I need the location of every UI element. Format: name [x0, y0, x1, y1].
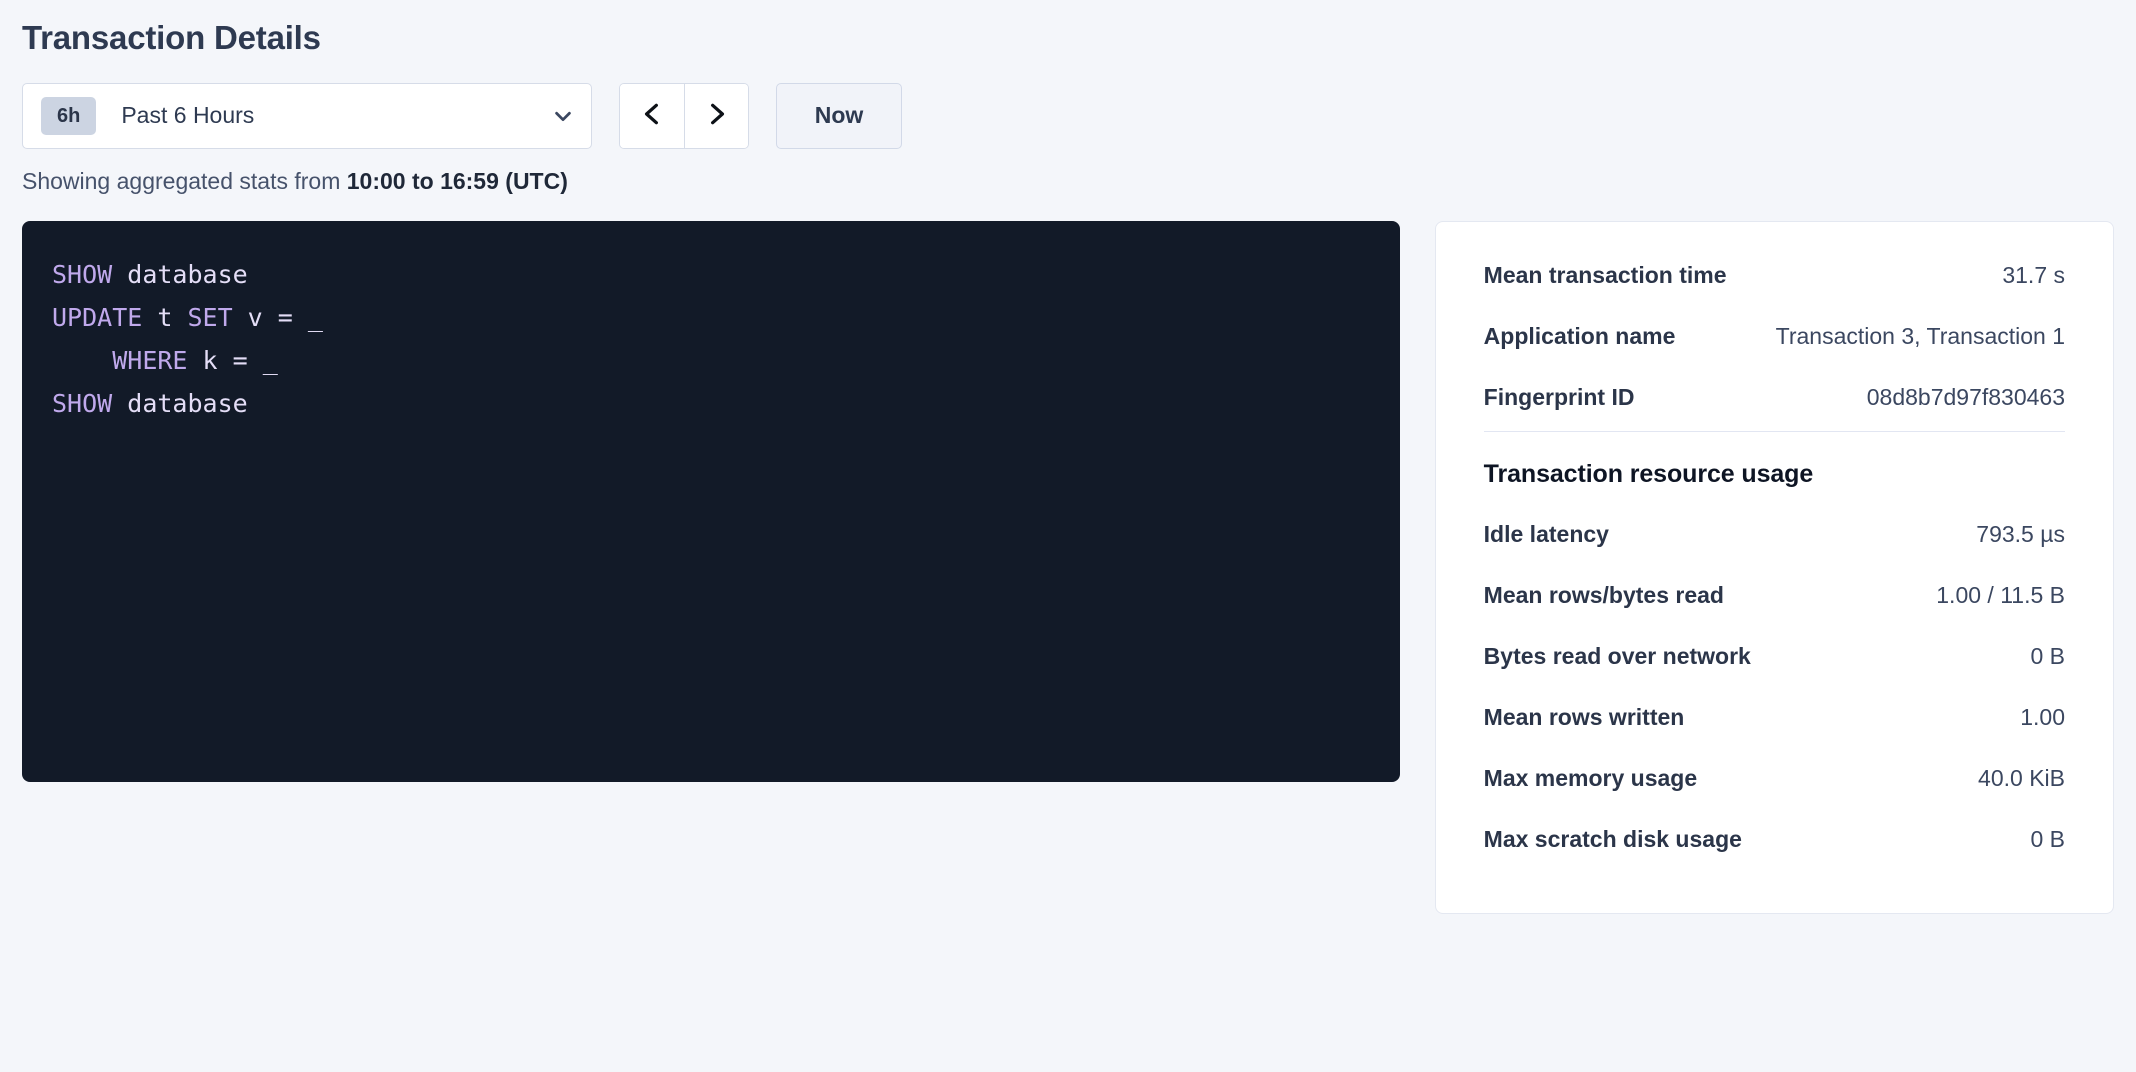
sql-token: t — [142, 303, 187, 332]
sql-token — [112, 389, 127, 418]
sql-token — [52, 346, 112, 375]
stat-label: Mean transaction time — [1484, 262, 1727, 289]
stat-label: Idle latency — [1484, 521, 1609, 548]
transaction-details-page: Transaction Details 6h Past 6 Hours — [0, 0, 2136, 1072]
stat-label: Mean rows/bytes read — [1484, 582, 1724, 609]
card-divider — [1484, 431, 2065, 432]
summary-stats-list: Mean transaction time31.7 sApplication n… — [1484, 262, 2065, 411]
stat-label: Max memory usage — [1484, 765, 1697, 792]
sql-token: database — [127, 260, 247, 289]
chevron-left-icon — [639, 101, 665, 130]
stat-label: Bytes read over network — [1484, 643, 1751, 670]
sql-token: k = _ — [187, 346, 277, 375]
stat-row: Idle latency793.5 µs — [1484, 521, 2065, 548]
previous-period-button[interactable] — [620, 84, 684, 148]
time-range-select[interactable]: 6h Past 6 Hours — [22, 83, 592, 149]
details-content: SHOW database UPDATE t SET v = _ WHERE k… — [22, 221, 2114, 914]
stat-value: 1.00 — [2020, 704, 2065, 731]
aggregation-period-prefix: Showing aggregated stats from — [22, 168, 347, 194]
stat-row: Max scratch disk usage0 B — [1484, 826, 2065, 853]
stat-label: Max scratch disk usage — [1484, 826, 1742, 853]
stat-label: Mean rows written — [1484, 704, 1685, 731]
time-nav-group — [619, 83, 749, 149]
chevron-right-icon — [704, 101, 730, 130]
time-range-toolbar: 6h Past 6 Hours — [22, 83, 2114, 149]
aggregation-period-text: Showing aggregated stats from 10:00 to 1… — [22, 168, 2114, 196]
stat-value: 793.5 µs — [1976, 521, 2065, 548]
stat-row: Fingerprint ID08d8b7d97f830463 — [1484, 384, 2065, 411]
stat-row: Mean transaction time31.7 s — [1484, 262, 2065, 289]
stat-label: Application name — [1484, 323, 1676, 350]
sql-token: database — [127, 389, 247, 418]
stat-value: 08d8b7d97f830463 — [1867, 384, 2065, 411]
stat-value: 40.0 KiB — [1978, 765, 2065, 792]
stat-row: Mean rows written1.00 — [1484, 704, 2065, 731]
next-period-button[interactable] — [684, 84, 748, 148]
page-title: Transaction Details — [22, 0, 2114, 58]
sql-token: SHOW — [52, 389, 112, 418]
aggregation-period-range: 10:00 to 16:59 (UTC) — [347, 168, 568, 194]
resource-usage-heading: Transaction resource usage — [1484, 460, 2065, 489]
stat-row: Application nameTransaction 3, Transacti… — [1484, 323, 2065, 350]
time-range-label: Past 6 Hours — [121, 102, 552, 129]
sql-token — [112, 260, 127, 289]
stat-row: Bytes read over network0 B — [1484, 643, 2065, 670]
stat-value: 0 B — [2030, 826, 2065, 853]
stat-row: Mean rows/bytes read1.00 / 11.5 B — [1484, 582, 2065, 609]
stat-value: Transaction 3, Transaction 1 — [1776, 323, 2065, 350]
time-range-badge: 6h — [41, 97, 96, 135]
stat-value: 1.00 / 11.5 B — [1936, 582, 2065, 609]
sql-token: SET — [187, 303, 232, 332]
resource-stats-list: Idle latency793.5 µsMean rows/bytes read… — [1484, 521, 2065, 853]
sql-token: SHOW — [52, 260, 112, 289]
sql-token: UPDATE — [52, 303, 142, 332]
sql-token: v = _ — [233, 303, 323, 332]
sql-statement-panel[interactable]: SHOW database UPDATE t SET v = _ WHERE k… — [22, 221, 1400, 782]
stat-value: 31.7 s — [2002, 262, 2065, 289]
stat-value: 0 B — [2030, 643, 2065, 670]
sql-statement-text: SHOW database UPDATE t SET v = _ WHERE k… — [52, 253, 1370, 425]
chevron-down-icon — [552, 105, 574, 127]
now-button[interactable]: Now — [776, 83, 902, 149]
transaction-stats-card: Mean transaction time31.7 sApplication n… — [1435, 221, 2114, 914]
stat-row: Max memory usage40.0 KiB — [1484, 765, 2065, 792]
sql-token: WHERE — [112, 346, 187, 375]
stat-label: Fingerprint ID — [1484, 384, 1635, 411]
